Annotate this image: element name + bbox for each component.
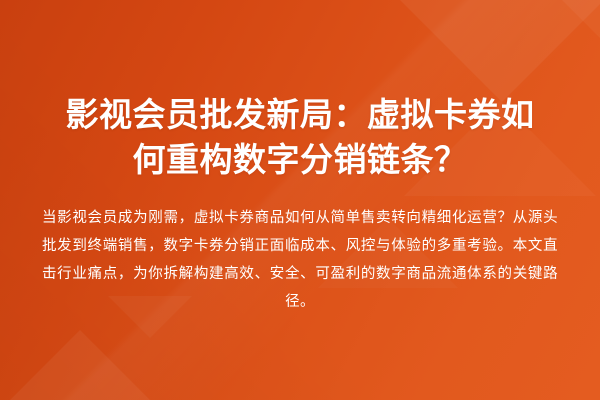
cover-content: 影视会员批发新局：虚拟卡券如 何重构数字分销链条？ 当影视会员成为刚需，虚拟卡券…	[42, 92, 558, 316]
decorative-triangle-bottom-left	[0, 330, 170, 400]
decorative-triangle-top-right-edge	[560, 0, 600, 58]
article-cover-banner: 影视会员批发新局：虚拟卡券如 何重构数字分销链条？ 当影视会员成为刚需，虚拟卡券…	[0, 0, 600, 400]
cover-description: 当影视会员成为刚需，虚拟卡券商品如何从简单售卖转向精细化运营？从源头批发到终端销…	[42, 204, 558, 316]
page-title: 影视会员批发新局：虚拟卡券如 何重构数字分销链条？	[42, 92, 558, 182]
decorative-triangle-top-right	[398, 0, 600, 102]
